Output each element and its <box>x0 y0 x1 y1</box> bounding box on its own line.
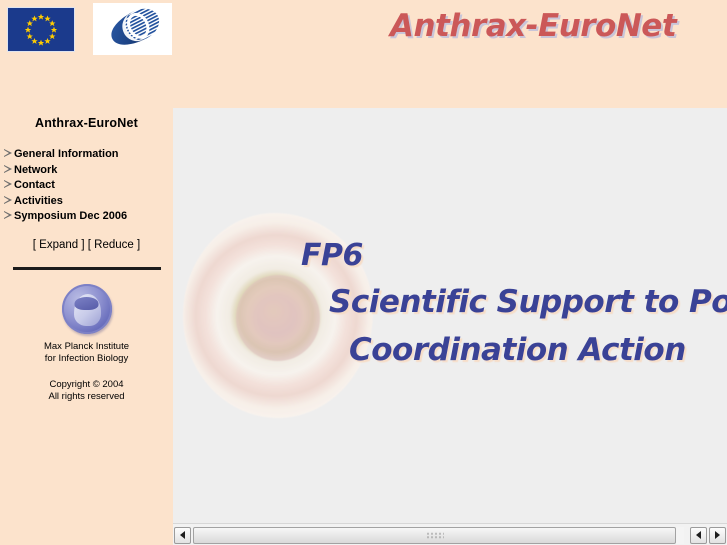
triangle-right-icon <box>4 165 13 174</box>
page-header: Anthrax-EuroNet <box>0 0 727 108</box>
scroll-left-arrow-icon <box>696 531 701 539</box>
scroll-thumb-grip-icon <box>426 532 444 539</box>
scroll-right-button[interactable] <box>709 527 726 544</box>
sidebar-item-label: Activities <box>14 195 63 207</box>
max-planck-minerva-logo-icon <box>62 284 112 334</box>
scroll-right-arrow-icon <box>715 531 720 539</box>
horizontal-scroll-thumb[interactable] <box>193 527 676 544</box>
sidebar: Anthrax-EuroNet General Information Netw… <box>0 108 173 545</box>
scroll-left-button-secondary[interactable] <box>690 527 707 544</box>
sidebar-item-network[interactable]: Network <box>0 163 173 179</box>
headline-line-3: Coordination Action <box>349 332 686 368</box>
institute-name-line1: Max Planck Institute <box>0 341 173 353</box>
scroll-button-group <box>689 527 727 544</box>
sidebar-heading: Anthrax-EuroNet <box>0 116 173 130</box>
main-content: FP6 Scientific Support to Policies Coord… <box>173 108 727 523</box>
sidebar-divider <box>13 267 161 270</box>
fp6-logo-svg <box>93 3 172 55</box>
fp6-framework-programme-logo-icon <box>93 3 172 55</box>
eu-stars-svg <box>8 8 74 51</box>
institute-name-line2: for Infection Biology <box>0 353 173 365</box>
triangle-right-icon <box>4 196 13 205</box>
european-union-flag-icon <box>7 7 75 52</box>
triangle-right-icon <box>4 211 13 220</box>
scrollbar-track[interactable] <box>193 527 684 544</box>
sidebar-item-label: General Information <box>14 148 119 160</box>
headline-line-1: FP6 <box>301 238 363 273</box>
sidebar-item-activities[interactable]: Activities <box>0 194 173 210</box>
copyright-notice: Copyright © 2004 All rights reserved <box>0 379 173 403</box>
page-root: Anthrax-EuroNet Anthrax-EuroNet General … <box>0 0 727 545</box>
expand-link[interactable]: [ Expand ] <box>33 239 85 251</box>
tree-controls: [ Expand ] [ Reduce ] <box>0 239 173 251</box>
horizontal-scrollbar[interactable] <box>173 523 727 545</box>
sidebar-item-general-information[interactable]: General Information <box>0 147 173 163</box>
sidebar-item-symposium-dec-2006[interactable]: Symposium Dec 2006 <box>0 209 173 225</box>
page-title: Anthrax-EuroNet <box>390 8 676 44</box>
copyright-line2: All rights reserved <box>0 391 173 403</box>
scroll-left-button[interactable] <box>174 527 191 544</box>
triangle-right-icon <box>4 180 13 189</box>
sidebar-item-label: Network <box>14 164 57 176</box>
sidebar-item-label: Contact <box>14 179 55 191</box>
triangle-right-icon <box>4 149 13 158</box>
scroll-left-arrow-icon <box>180 531 185 539</box>
reduce-link[interactable]: [ Reduce ] <box>88 239 140 251</box>
headline-line-2: Scientific Support to Policies <box>329 284 727 320</box>
sidebar-item-contact[interactable]: Contact <box>0 178 173 194</box>
sidebar-item-label: Symposium Dec 2006 <box>14 210 127 222</box>
institute-name: Max Planck Institute for Infection Biolo… <box>0 341 173 365</box>
copyright-line1: Copyright © 2004 <box>0 379 173 391</box>
sidebar-nav: General Information Network Contact Acti… <box>0 147 173 225</box>
